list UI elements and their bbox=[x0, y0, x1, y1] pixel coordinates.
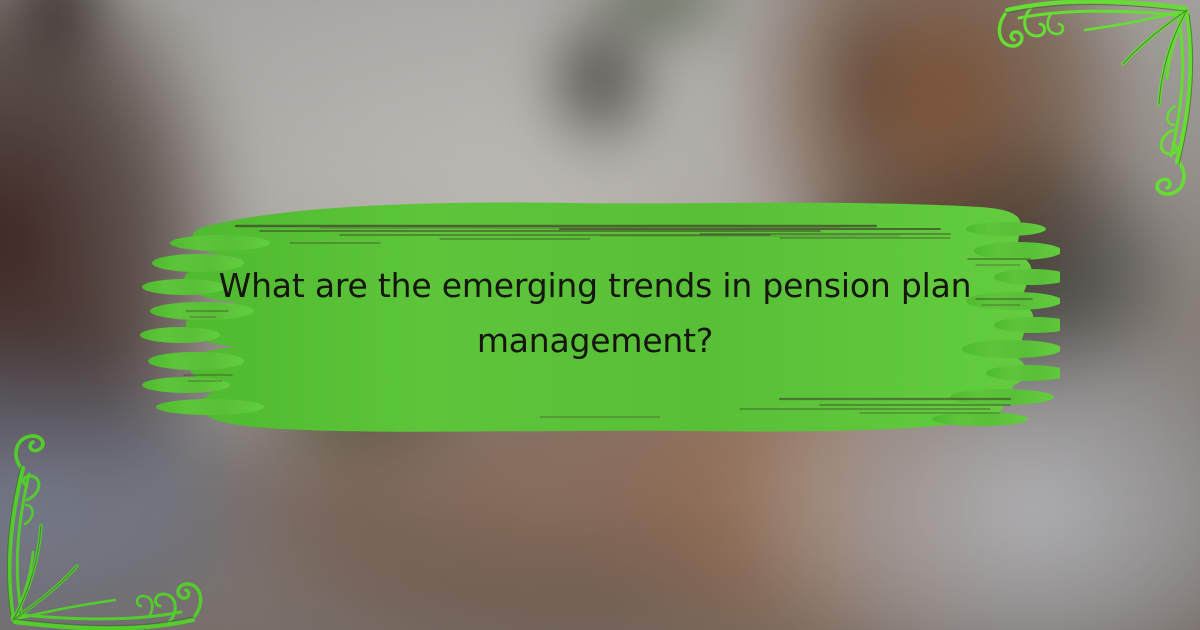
page-title: What are the emerging trends in pension … bbox=[175, 258, 1015, 368]
corner-flourish-top-right-icon bbox=[989, 0, 1200, 209]
quote-card: What are the emerging trends in pension … bbox=[0, 0, 1200, 630]
corner-flourish-bottom-left-icon bbox=[0, 421, 211, 630]
